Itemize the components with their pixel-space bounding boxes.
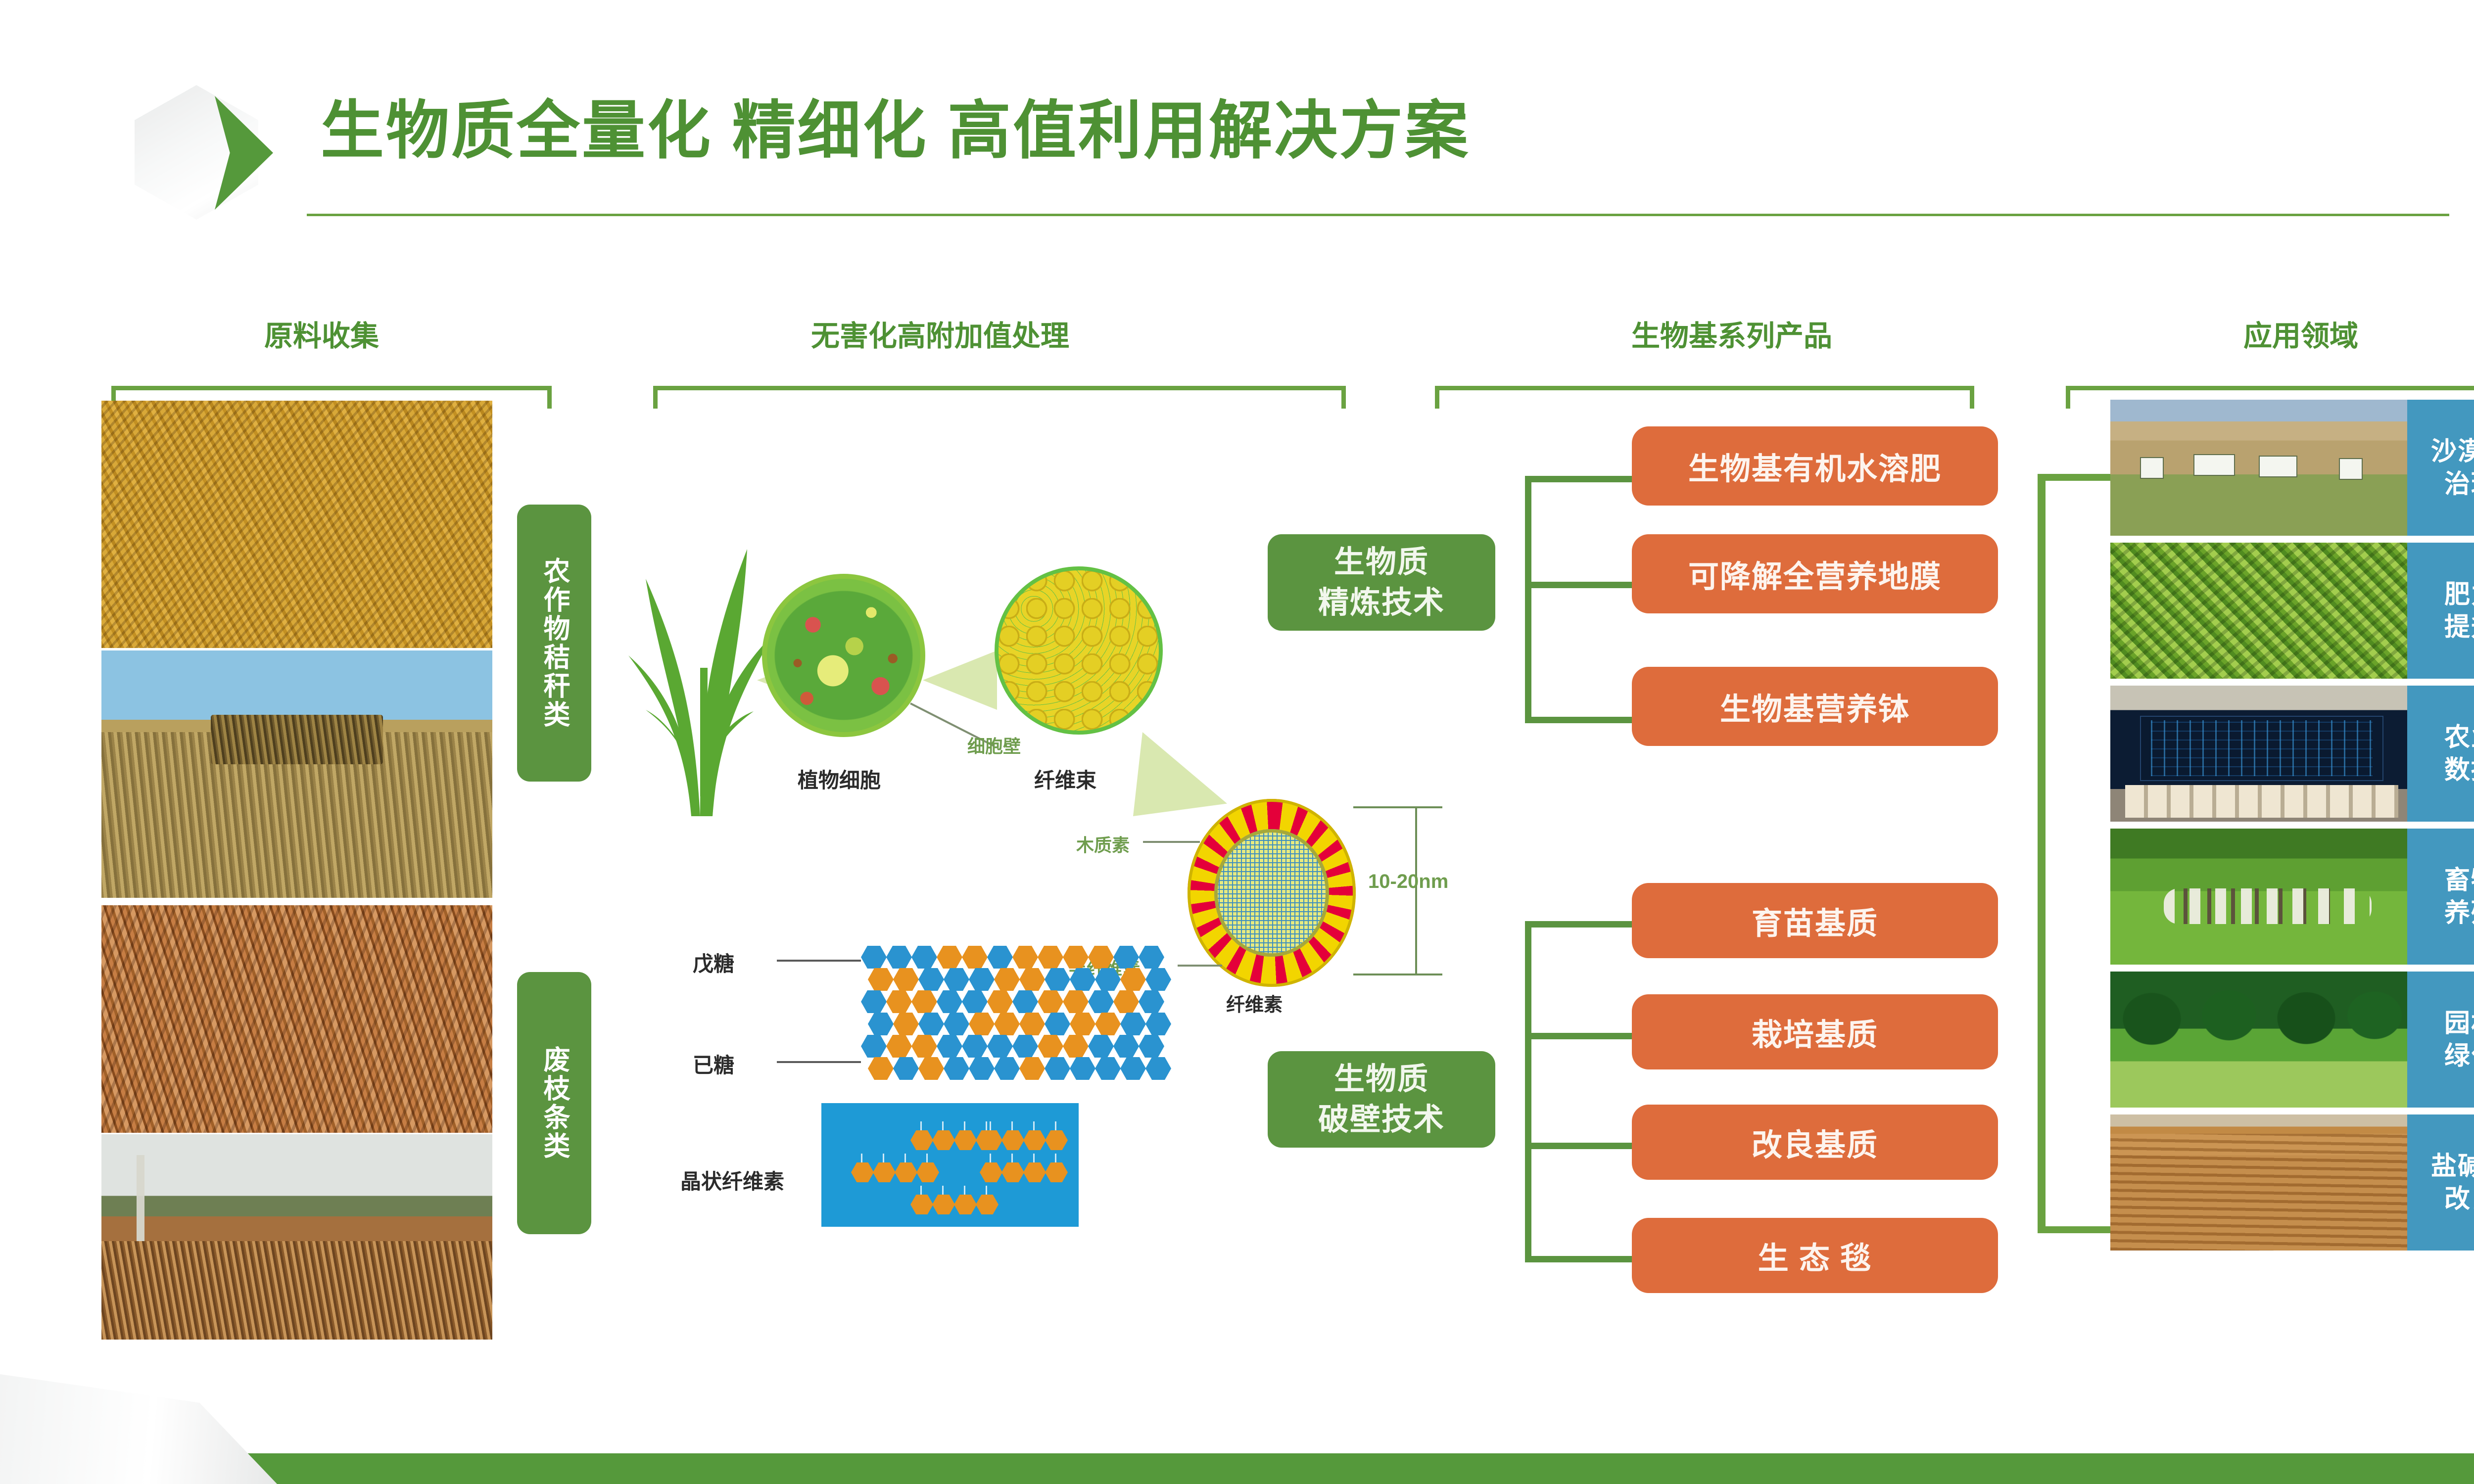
footer-white-wedge: [0, 1374, 277, 1484]
application-label-soil-fertility-line1: 肥力: [2444, 578, 2474, 611]
tech-pill-refining[interactable]: 生物质 精炼技术: [1268, 534, 1495, 631]
tech-pill-refining-line1: 生物质: [1334, 542, 1429, 583]
lignin-label: 木质素: [1076, 831, 1130, 857]
application-label-agri-data-line2: 数据: [2444, 754, 2474, 787]
application-label-agri-data-line1: 农业: [2444, 721, 2474, 754]
corn-stalk-pile-photo: [101, 401, 492, 648]
application-label-agri-data[interactable]: 农业 数据: [2407, 686, 2474, 822]
application-label-desertification-line1: 沙漠化: [2431, 435, 2474, 468]
hemicellulose-leader-line: [1178, 965, 1222, 967]
tech-pill-cellwall-line2: 破壁技术: [1318, 1100, 1445, 1140]
lignin-leader-line: [1143, 841, 1200, 843]
hexose-leader-line: [777, 1061, 861, 1063]
cell-wall-label: 细胞壁: [967, 732, 1021, 758]
sheep-pasture-photo: [2110, 829, 2407, 965]
hexose-label: 已糖: [693, 1049, 734, 1079]
data-control-room-photo: [2110, 686, 2407, 822]
footer-green-band: [0, 1453, 2474, 1484]
sugar-lattice-illustration: [861, 946, 1168, 1079]
applications-bracket-top: [2038, 474, 2122, 481]
plant-cell-illustration: [762, 574, 925, 737]
cabbage-field-photo: [2110, 543, 2407, 679]
pentose-leader-line: [777, 960, 861, 962]
plant-cell-label: 植物细胞: [798, 764, 881, 794]
dimension-top-tick: [1353, 806, 1442, 808]
product-pill-water-soluble-fertilizer[interactable]: 生物基有机水溶肥: [1632, 426, 1998, 506]
product-pill-improvement-substrate[interactable]: 改良基质: [1632, 1105, 1998, 1180]
application-label-desertification[interactable]: 沙漠化 治理: [2407, 400, 2474, 536]
crystalline-cellulose-illustration: [821, 1103, 1079, 1227]
section-header-apps: 应用领域: [2078, 313, 2474, 354]
product-pill-seedling-substrate[interactable]: 育苗基质: [1632, 883, 1998, 958]
application-label-saline-land-line1: 盐碱地: [2431, 1150, 2474, 1183]
fiber-bundle-illustration: [995, 566, 1163, 735]
vineyard-pruning-photo: [101, 1134, 492, 1340]
tech-pill-cellwall[interactable]: 生物质 破壁技术: [1268, 1051, 1495, 1148]
application-label-soil-fertility-line2: 提升: [2444, 611, 2474, 644]
page-title: 生物质全量化 精细化 高值利用解决方案: [321, 94, 1470, 168]
fiber-bundle-label: 纤维束: [1034, 764, 1096, 794]
pentose-label: 戊糖: [693, 947, 734, 977]
applications-bracket-bottom: [2038, 1226, 2122, 1233]
connector-spine-refining: [1525, 476, 1531, 723]
grass-plant-icon: [626, 519, 784, 816]
application-label-saline-land[interactable]: 盐碱地 改良: [2407, 1114, 2474, 1251]
application-label-livestock[interactable]: 畜牧 养殖: [2407, 829, 2474, 965]
category-pill-waste-branches[interactable]: 废枝条类: [517, 972, 591, 1234]
connector-spine-cellwall: [1525, 921, 1531, 1262]
application-label-saline-land-line2: 改良: [2444, 1183, 2474, 1215]
application-label-landscaping-line1: 园林: [2444, 1007, 2474, 1040]
section-header-processing: 无害化高附加值处理: [495, 313, 1385, 354]
application-label-desertification-line2: 治理: [2444, 468, 2474, 501]
section-bracket-products: [1435, 386, 1974, 409]
section-header-products: 生物基系列产品: [1410, 313, 2053, 354]
magnify-cone-2-icon: [923, 650, 997, 710]
park-landscape-photo: [2110, 972, 2407, 1108]
desert-restoration-photo: [2110, 400, 2407, 536]
cellulose-label: 纤维素: [1226, 989, 1283, 1017]
dimension-label: 10-20nm: [1368, 871, 1448, 893]
magnify-cone-3-icon: [1133, 732, 1227, 816]
application-label-livestock-line1: 畜牧: [2444, 864, 2474, 897]
dimension-bottom-tick: [1353, 974, 1442, 975]
tech-pill-cellwall-line1: 生物质: [1334, 1059, 1429, 1100]
category-pill-crop-straw[interactable]: 农作物秸秆类: [517, 505, 591, 782]
hexagon-logo-badge: [135, 85, 258, 220]
product-pill-biodegradable-mulch-film[interactable]: 可降解全营养地膜: [1632, 534, 1998, 613]
fiber-cross-section-illustration: [1188, 799, 1356, 987]
straw-bale-field-photo: [101, 650, 492, 898]
application-label-landscaping[interactable]: 园林 绿化: [2407, 972, 2474, 1108]
saline-soil-photo: [2110, 1114, 2407, 1251]
application-label-livestock-line2: 养殖: [2444, 897, 2474, 929]
application-label-soil-fertility[interactable]: 肥力 提升: [2407, 543, 2474, 679]
product-pill-ecological-blanket[interactable]: 生 态 毯: [1632, 1218, 1998, 1293]
crystal-cellulose-label: 晶状纤维素: [680, 1165, 784, 1195]
tech-pill-refining-line2: 精炼技术: [1318, 583, 1445, 623]
section-bracket-processing: [653, 386, 1346, 409]
applications-bracket-spine: [2038, 474, 2046, 1233]
section-header-raw: 原料收集: [148, 313, 495, 354]
product-pill-cultivation-substrate[interactable]: 栽培基质: [1632, 994, 1998, 1069]
infographic-canvas: 生物质全量化 精细化 高值利用解决方案 原料收集 无害化高附加值处理 生物基系列…: [0, 0, 2474, 1484]
product-pill-nutrient-pot[interactable]: 生物基营养钵: [1632, 667, 1998, 746]
title-divider: [307, 214, 2449, 216]
application-label-landscaping-line2: 绿化: [2444, 1040, 2474, 1072]
dry-branches-photo: [101, 905, 492, 1133]
